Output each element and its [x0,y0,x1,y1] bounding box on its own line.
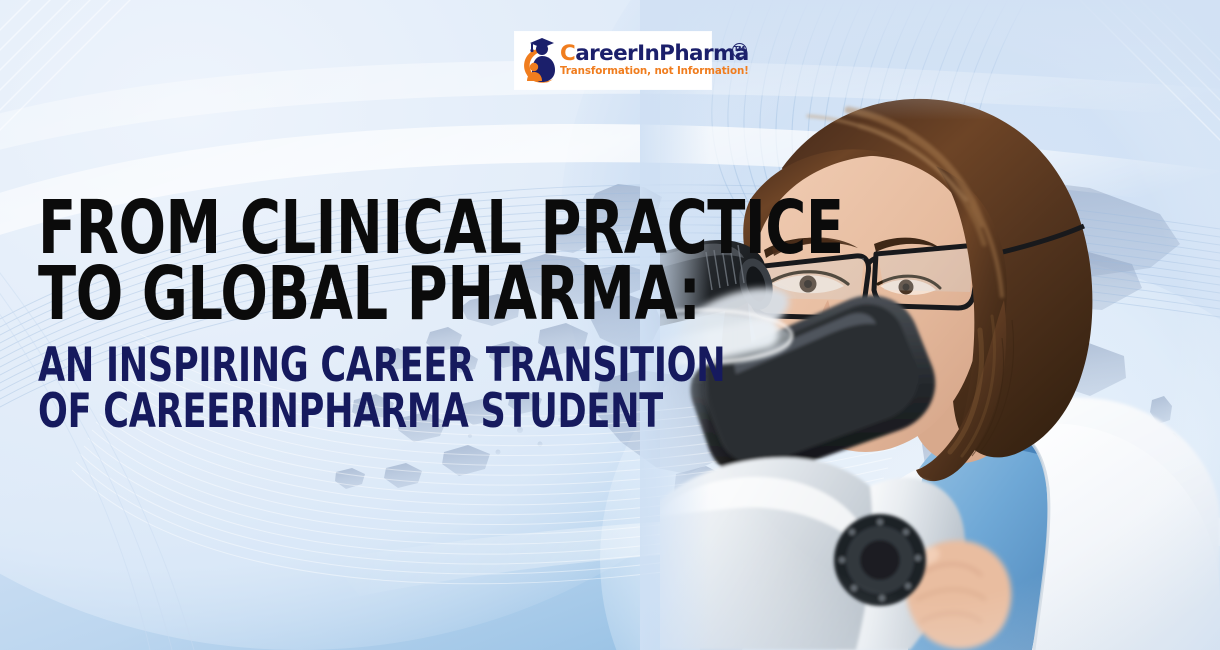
trademark-icon: TM [732,43,747,58]
headline-line-2: TO GLOBAL PHARMA: [38,262,727,326]
logo-text: CareerInPharma Transformation, not Infor… [559,43,749,78]
subheadline-block: AN INSPIRING CAREER TRANSITION OF CAREER… [38,343,858,434]
logo-word-rest: areerInPharma [575,41,748,66]
careerinpharma-logo[interactable]: CareerInPharma Transformation, not Infor… [515,32,711,89]
logo-initial: C [560,41,575,66]
graduate-figure-icon [519,37,559,85]
logo-tagline: Transformation, not Information! [560,65,749,78]
headline-block: FROM CLINICAL PRACTICE TO GLOBAL PHARMA:… [38,196,858,434]
logo-wordmark: CareerInPharma [560,43,749,65]
subheadline-line-1: AN INSPIRING CAREER TRANSITION [38,343,719,388]
subheadline-line-2: OF CAREERINPHARMA STUDENT [38,389,719,434]
banner-root: CareerInPharma Transformation, not Infor… [0,0,1220,650]
